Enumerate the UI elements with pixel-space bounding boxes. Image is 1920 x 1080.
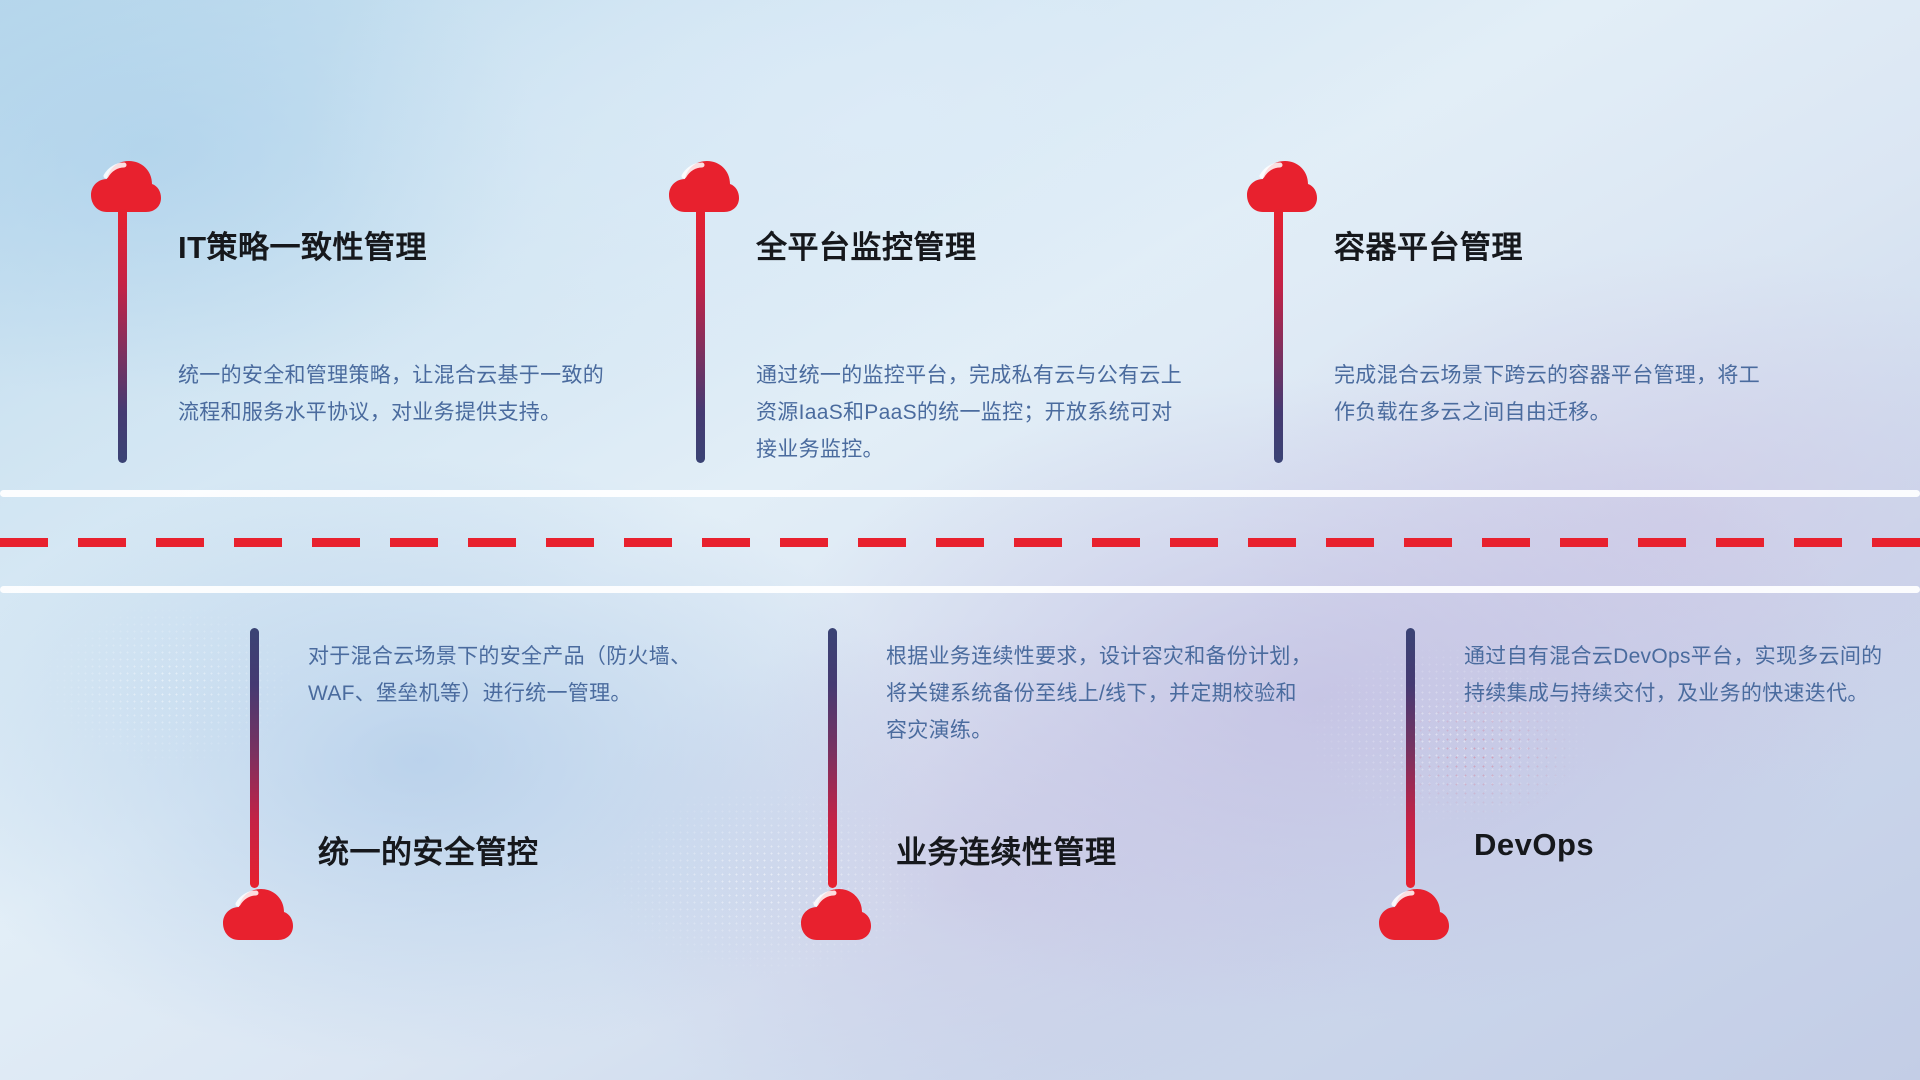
bottom-heading-1: 统一的安全管控 xyxy=(318,827,539,872)
top-heading-2: 全平台监控管理 xyxy=(756,222,977,267)
top-description-1: 统一的安全和管理策略，让混合云基于一致的流程和服务水平协议，对业务提供支持。 xyxy=(178,357,610,431)
connector-bar xyxy=(1274,208,1283,463)
cloud-icon-glyph xyxy=(668,160,740,214)
top-heading-3: 容器平台管理 xyxy=(1334,222,1523,267)
bottom-heading-2: 业务连续性管理 xyxy=(896,827,1117,872)
divider-line-top xyxy=(0,490,1920,497)
bottom-description-2: 根据业务连续性要求，设计容灾和备份计划，将关键系统备份至线上/线下，并定期校验和… xyxy=(886,638,1318,749)
cloud-icon-glyph xyxy=(222,888,294,942)
cloud-icon-glyph xyxy=(800,888,872,942)
connector-bar xyxy=(118,208,127,463)
bottom-description-3: 通过自有混合云DevOps平台，实现多云间的持续集成与持续交付，及业务的快速迭代… xyxy=(1464,638,1896,712)
top-heading-1: IT策略一致性管理 xyxy=(178,222,427,267)
cloud-icon xyxy=(800,888,872,947)
bottom-description-1: 对于混合云场景下的安全产品（防火墙、WAF、堡垒机等）进行统一管理。 xyxy=(308,638,740,712)
top-description-3: 完成混合云场景下跨云的容器平台管理，将工作负载在多云之间自由迁移。 xyxy=(1334,357,1766,431)
dot-texture-left xyxy=(40,600,300,770)
top-description-2: 通过统一的监控平台，完成私有云与公有云上资源IaaS和PaaS的统一监控；开放系… xyxy=(756,357,1188,468)
infographic-canvas: IT策略一致性管理 统一的安全和管理策略，让混合云基于一致的流程和服务水平协议，… xyxy=(0,0,1920,1080)
connector-bar xyxy=(696,208,705,463)
dot-texture-center xyxy=(600,780,940,980)
divider-line-bottom xyxy=(0,586,1920,593)
connector-bar xyxy=(250,628,259,888)
connector-bar xyxy=(828,628,837,888)
cloud-icon-glyph xyxy=(90,160,162,214)
connector-bar xyxy=(1406,628,1415,888)
cloud-icon xyxy=(1378,888,1450,947)
bottom-heading-3: DevOps xyxy=(1474,827,1594,863)
cloud-icon-glyph xyxy=(1378,888,1450,942)
cloud-icon-glyph xyxy=(1246,160,1318,214)
divider-dashed-line xyxy=(0,538,1920,547)
cloud-icon xyxy=(222,888,294,947)
